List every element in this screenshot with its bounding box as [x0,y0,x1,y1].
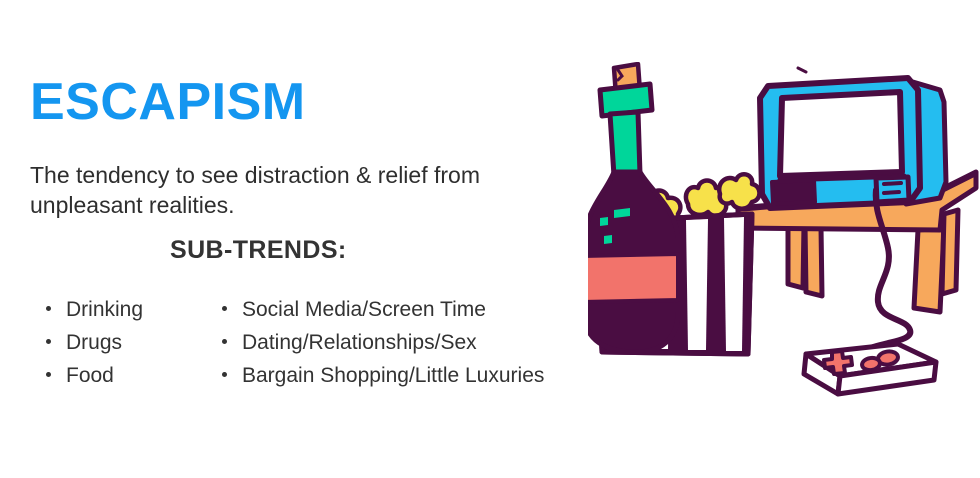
list-item-label: Drinking [66,298,143,321]
list-item: Drugs [30,326,206,359]
illustration-svg [588,62,980,432]
bullet-icon [46,306,51,311]
list-item-label: Dating/Relationships/Sex [242,331,477,354]
list-item: Food [30,359,206,392]
game-controller-icon [804,344,936,394]
list-item: Social Media/Screen Time [206,293,606,326]
escapism-illustration [588,62,980,432]
list-item: Bargain Shopping/Little Luxuries [206,359,606,392]
bullet-icon [222,306,227,311]
list-item: Drinking [30,293,206,326]
text-column: ESCAPISM The tendency to see distraction… [0,0,620,478]
subtrends-heading: SUB-TRENDS: [170,236,347,265]
list-item-label: Food [66,364,114,387]
television-icon [760,68,946,208]
list-item-label: Bargain Shopping/Little Luxuries [242,364,544,387]
list-item-label: Social Media/Screen Time [242,298,486,321]
bullet-icon [46,372,51,377]
bullet-icon [222,339,227,344]
page-title: ESCAPISM [30,76,306,128]
wine-bottle-icon [588,64,678,352]
escapism-slide: ESCAPISM The tendency to see distraction… [0,0,980,478]
definition-text: The tendency to see distraction & relief… [30,160,570,221]
subtrends-column-a: Drinking Drugs Food [30,293,206,393]
list-item: Dating/Relationships/Sex [206,326,606,359]
bullet-icon [46,339,51,344]
subtrends-column-b: Social Media/Screen Time Dating/Relation… [206,293,606,393]
subtrends-lists: Drinking Drugs Food Social Media/Screen … [30,293,620,393]
list-item-label: Drugs [66,331,122,354]
bullet-icon [222,372,227,377]
